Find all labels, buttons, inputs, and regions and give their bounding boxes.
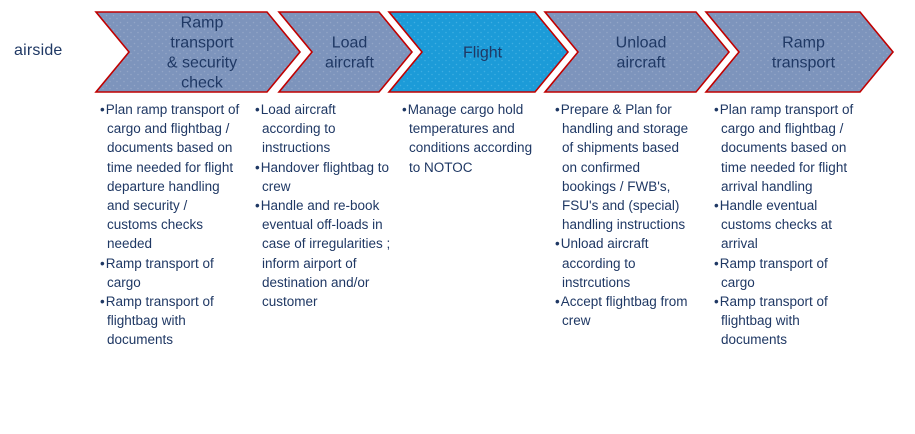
detail-column-flight: Manage cargo hold temperatures and condi…	[402, 100, 542, 177]
bullet-item: Manage cargo hold temperatures and condi…	[402, 100, 542, 177]
detail-column-unload-aircraft: Prepare & Plan for handling and storage …	[555, 100, 697, 330]
process-chevron-band: Ramptransport& securitycheckLoadaircraft…	[0, 0, 915, 100]
process-detail-columns: Plan ramp transport of cargo and flightb…	[0, 100, 915, 434]
bullet-list: Prepare & Plan for handling and storage …	[555, 100, 697, 330]
bullet-list: Plan ramp transport of cargo and flightb…	[100, 100, 240, 350]
detail-column-load-aircraft: Load aircraft according to instructionsH…	[255, 100, 395, 311]
bullet-item: Ramp transport of cargo	[100, 254, 240, 292]
bullet-item: Accept flightbag from crew	[555, 292, 697, 330]
bullet-item: Ramp transport of cargo	[714, 254, 864, 292]
detail-column-ramp-transport-security-check: Plan ramp transport of cargo and flightb…	[100, 100, 240, 350]
bullet-item: Unload aircraft according to instrcution…	[555, 234, 697, 292]
bullet-list: Plan ramp transport of cargo and flightb…	[714, 100, 864, 350]
chevron-label-flight: Flight	[463, 45, 503, 62]
bullet-list: Load aircraft according to instructionsH…	[255, 100, 395, 311]
chevron-ramp-transport[interactable]	[706, 12, 893, 92]
bullet-item: Prepare & Plan for handling and storage …	[555, 100, 697, 234]
chevron-unload-aircraft[interactable]	[545, 12, 729, 92]
bullet-item: Handover flightbag to crew	[255, 158, 395, 196]
bullet-item: Ramp transport of flightbag with documen…	[100, 292, 240, 350]
bullet-item: Plan ramp transport of cargo and flightb…	[714, 100, 864, 196]
bullet-item: Handle and re-book eventual off-loads in…	[255, 196, 395, 311]
bullet-item: Handle eventual customs checks at arriva…	[714, 196, 864, 254]
bullet-item: Ramp transport of flightbag with documen…	[714, 292, 864, 350]
process-chevron-svg: Ramptransport& securitycheckLoadaircraft…	[0, 0, 915, 100]
bullet-list: Manage cargo hold temperatures and condi…	[402, 100, 542, 177]
bullet-item: Load aircraft according to instructions	[255, 100, 395, 158]
bullet-item: Plan ramp transport of cargo and flightb…	[100, 100, 240, 254]
detail-column-ramp-transport: Plan ramp transport of cargo and flightb…	[714, 100, 864, 350]
